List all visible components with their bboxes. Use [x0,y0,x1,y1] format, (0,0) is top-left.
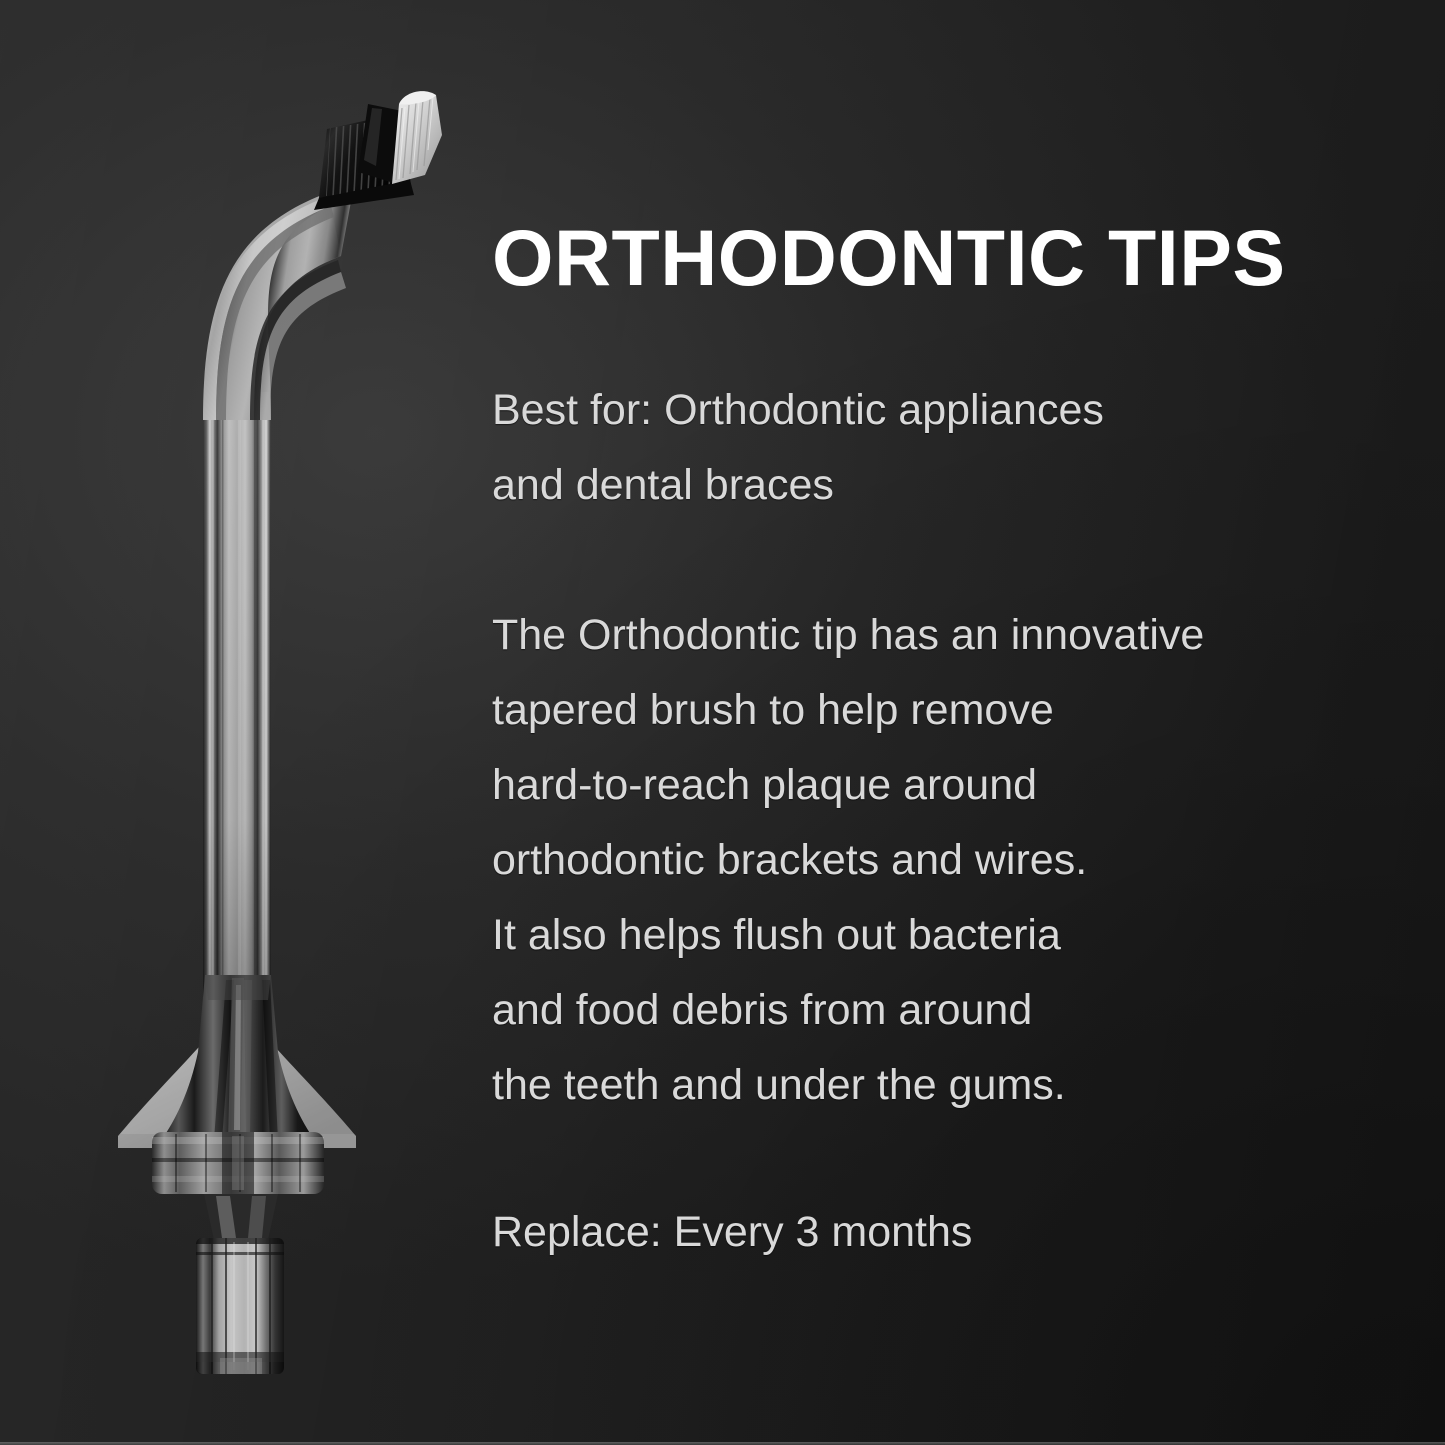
description-line: and food debris from around [492,973,1372,1048]
description-line: It also helps flush out bacteria [492,898,1372,973]
description-line: hard-to-reach plaque around [492,748,1372,823]
product-info-card: ORTHODONTIC TIPS Best for: Orthodontic a… [0,0,1445,1445]
description-line: The Orthodontic tip has an innovative [492,598,1372,673]
description-line: tapered brush to help remove [492,673,1372,748]
product-image-orthodontic-tip [0,0,520,1445]
translucent-collar-ring [152,1132,324,1194]
page-title: ORTHODONTIC TIPS [492,218,1372,297]
best-for-block: Best for: Orthodontic appliances and den… [492,373,1372,523]
description-line: the teeth and under the gums. [492,1048,1372,1123]
ribbed-connector-stem [196,1238,284,1376]
best-for-line: Best for: Orthodontic appliances [492,373,1372,448]
tapered-brush-head [392,91,442,184]
curved-translucent-shaft [203,392,271,1002]
best-for-line: and dental braces [492,448,1372,523]
base-cone-core [160,975,316,1142]
replace-line: Replace: Every 3 months [492,1195,1372,1270]
description-block: The Orthodontic tip has an innovative ta… [492,598,1372,1123]
description-line: orthodontic brackets and wires. [492,823,1372,898]
replace-block: Replace: Every 3 months [492,1195,1372,1270]
base-neck [204,1194,278,1240]
shaft-bend [203,193,352,420]
info-text-panel: ORTHODONTIC TIPS Best for: Orthodontic a… [492,218,1372,1270]
